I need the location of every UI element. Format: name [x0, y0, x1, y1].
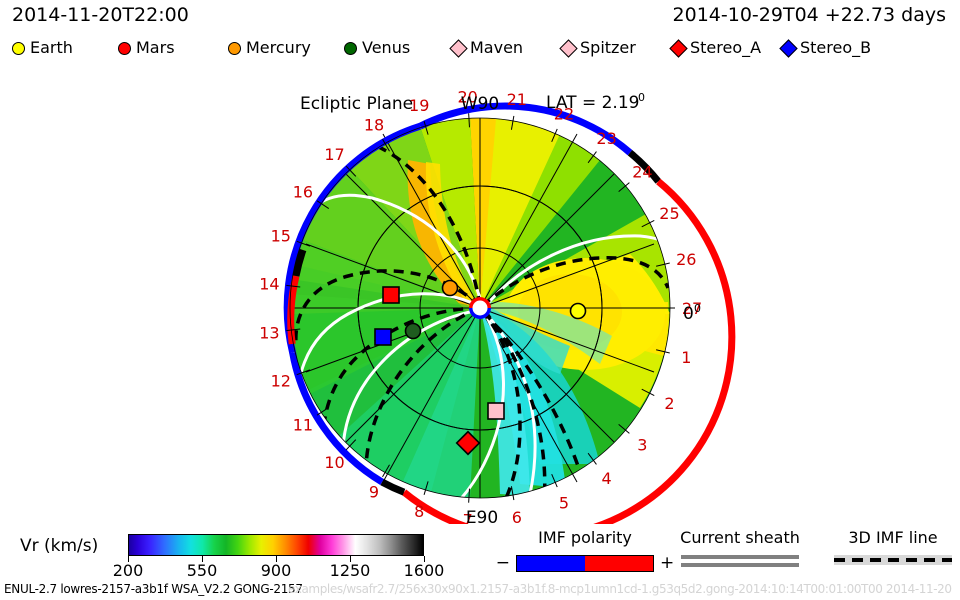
legend-item-earth: Earth	[12, 36, 73, 60]
colorbar-tick-label-1250: 1250	[330, 561, 371, 580]
colorbar-title: Vr (km/s)	[20, 536, 98, 556]
carrington-label-26: 26	[676, 250, 696, 269]
footer-area: Vr (km/s) 20055090012501600 IMF polarity…	[0, 524, 960, 600]
legend-item-mars: Mars	[118, 36, 175, 60]
carrington-label-14: 14	[259, 274, 279, 293]
legend-item-maven: Maven	[452, 36, 523, 60]
imf-line-legend: 3D IMF line	[828, 528, 958, 565]
stereo_b-diamond-icon	[779, 39, 797, 57]
carrington-label-16: 16	[293, 183, 313, 202]
colorbar-tick-label-550: 550	[187, 561, 218, 580]
legend-label-spitzer: Spitzer	[580, 40, 636, 56]
legend-item-stereo_a: Stereo_A	[672, 36, 761, 60]
legend-item-venus: Venus	[344, 36, 410, 60]
marker-earth	[571, 304, 586, 319]
carrington-label-25: 25	[659, 204, 679, 223]
ecliptic-plane-plot: 1234567891011121314151617181920212223242…	[0, 64, 960, 524]
current-datetime-label: 2014-11-20T22:00	[12, 4, 189, 26]
carrington-label-24: 24	[632, 163, 652, 182]
object-legend: EarthMarsMercuryVenusMavenSpitzerStereo_…	[0, 36, 960, 64]
carrington-label-2: 2	[664, 394, 674, 413]
legend-label-mercury: Mercury	[246, 40, 311, 56]
legend-item-stereo_b: Stereo_B	[782, 36, 871, 60]
colorbar-tick-label-900: 900	[261, 561, 292, 580]
carrington-label-13: 13	[259, 324, 279, 343]
mercury-circle-icon	[228, 42, 241, 55]
current-sheath-title: Current sheath	[660, 528, 820, 547]
run-credit-line: ENUL-2.7 lowres-2157-a3b1f WSA_V2.2 GONG…	[4, 582, 303, 596]
current-sheath-legend: Current sheath	[660, 528, 820, 567]
marker-spitzer	[488, 403, 504, 419]
w90-label: W90	[461, 94, 499, 114]
zero-longitude-label: 0	[683, 304, 694, 324]
marker-mercury	[443, 281, 458, 296]
polarity-minus-sign: −	[496, 555, 510, 572]
legend-label-earth: Earth	[30, 40, 73, 56]
colorbar-tick-label-200: 200	[113, 561, 144, 580]
carrington-label-8: 8	[414, 502, 424, 521]
spitzer-diamond-icon	[559, 39, 577, 57]
carrington-label-17: 17	[324, 145, 344, 164]
legend-label-stereo_a: Stereo_A	[690, 40, 761, 56]
carrington-label-15: 15	[271, 226, 291, 245]
carrington-label-4: 4	[602, 469, 612, 488]
imf-line-sample	[834, 555, 952, 565]
ecliptic-plane-label: Ecliptic Plane	[300, 94, 413, 114]
carrington-label-3: 3	[637, 435, 647, 454]
stereo_a-diamond-icon	[669, 39, 687, 57]
faint-run-path: examples/wsafr2.7/256x30x90x1.2157-a3b1f…	[288, 582, 952, 596]
imf-line-dashes	[834, 558, 952, 562]
carrington-label-11: 11	[293, 415, 313, 434]
colorbar-tick-label-1600: 1600	[404, 561, 445, 580]
legend-label-venus: Venus	[362, 40, 410, 56]
imf-polarity-title: IMF polarity	[500, 528, 670, 547]
imf-line-title: 3D IMF line	[828, 528, 958, 547]
carrington-label-6: 6	[512, 508, 522, 524]
legend-label-stereo_b: Stereo_B	[800, 40, 871, 56]
carrington-label-23: 23	[596, 129, 616, 148]
polarity-bar	[516, 555, 654, 572]
marker-sun	[469, 297, 491, 319]
marker-mars	[383, 287, 399, 303]
plot-canvas: 1234567891011121314151617181920212223242…	[0, 64, 960, 524]
carrington-label-12: 12	[271, 372, 291, 391]
legend-label-maven: Maven	[470, 40, 523, 56]
colorbar-block: Vr (km/s) 20055090012501600	[12, 528, 442, 588]
marker-venus	[406, 324, 421, 339]
polarity-negative-swatch	[517, 556, 585, 571]
carrington-label-5: 5	[559, 494, 569, 513]
e90-label: E90	[466, 508, 498, 524]
legend-item-mercury: Mercury	[228, 36, 311, 60]
venus-circle-icon	[344, 42, 357, 55]
carrington-label-21: 21	[507, 90, 527, 109]
earth-circle-icon	[12, 42, 25, 55]
latitude-degree-sign: 0	[638, 91, 645, 104]
legend-item-spitzer: Spitzer	[562, 36, 636, 60]
sheath-line-top	[681, 555, 799, 559]
zero-degree-sign: 0	[694, 302, 701, 315]
carrington-label-9: 9	[369, 483, 379, 502]
header-bar: 2014-11-20T22:00 2014-10-29T04 +22.73 da…	[0, 0, 960, 34]
polarity-positive-swatch	[585, 556, 653, 571]
mars-circle-icon	[118, 42, 131, 55]
colorbar-gradient	[128, 534, 424, 556]
carrington-label-1: 1	[681, 348, 691, 367]
current-sheath-sample	[681, 555, 799, 567]
latitude-label: LAT = 2.19	[546, 93, 639, 113]
run-start-datetime-label: 2014-10-29T04 +22.73 days	[673, 4, 946, 26]
carrington-label-10: 10	[324, 453, 344, 472]
sheath-line-bottom	[681, 563, 799, 567]
carrington-label-18: 18	[364, 115, 384, 134]
maven-diamond-icon	[449, 39, 467, 57]
legend-label-mars: Mars	[136, 40, 175, 56]
imf-polarity-legend: IMF polarity − +	[500, 528, 670, 572]
sun-core	[473, 301, 488, 316]
marker-stereo-b	[375, 329, 391, 345]
